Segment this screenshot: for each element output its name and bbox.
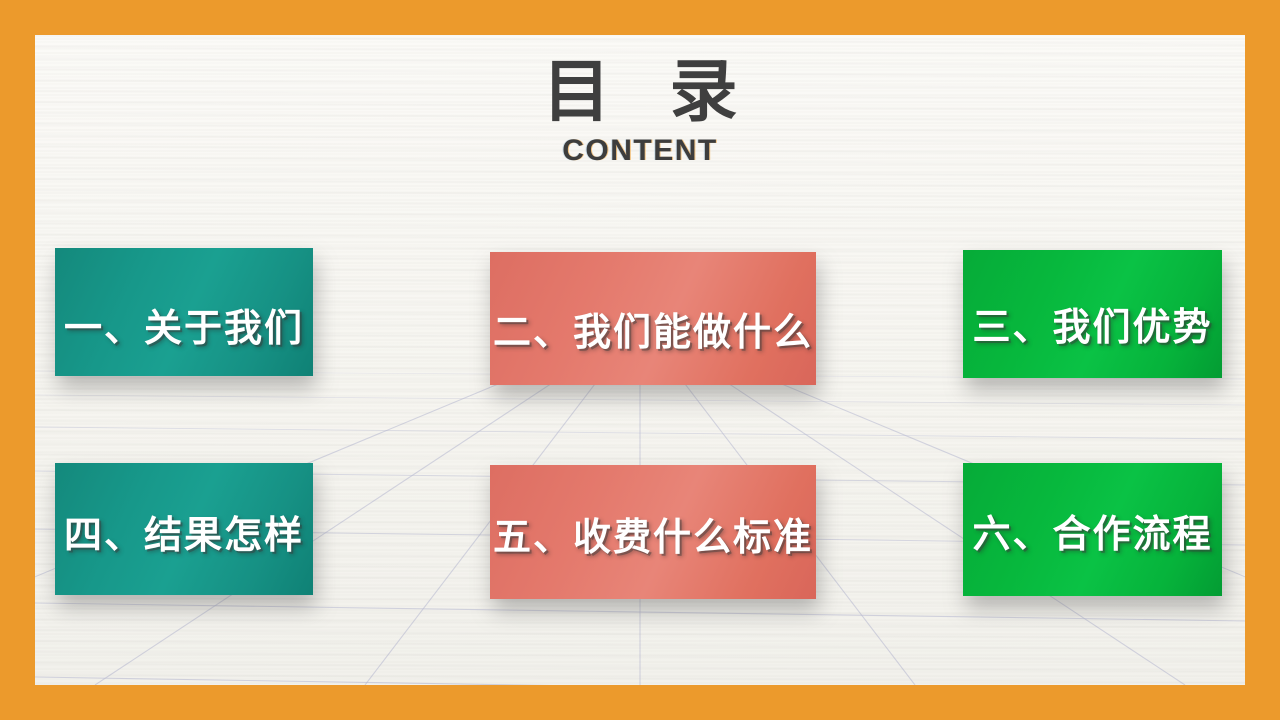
page-subtitle: CONTENT [35,134,1245,168]
slide-canvas: 目 录 CONTENT 一、关于我们 二、我们能做什么 三、我们优势 四、结果怎… [35,35,1245,685]
slide-header: 目 录 CONTENT [35,57,1245,168]
toc-card-6-label: 六、合作流程 [972,503,1212,558]
toc-card-2-label: 二、我们能做什么 [493,301,813,356]
toc-card-3[interactable]: 三、我们优势 [963,250,1222,378]
toc-card-6[interactable]: 六、合作流程 [963,463,1222,596]
toc-card-5-label: 五、收费什么标准 [493,506,813,561]
page-title: 目 录 [35,57,1245,128]
toc-card-4-label: 四、结果怎样 [64,504,304,559]
toc-card-3-label: 三、我们优势 [972,296,1212,351]
toc-card-2[interactable]: 二、我们能做什么 [490,252,816,385]
slide-root: 目 录 CONTENT 一、关于我们 二、我们能做什么 三、我们优势 四、结果怎… [0,0,1280,720]
toc-card-1-label: 一、关于我们 [64,297,304,352]
toc-card-4[interactable]: 四、结果怎样 [55,463,313,595]
toc-card-5[interactable]: 五、收费什么标准 [490,465,816,599]
toc-card-1[interactable]: 一、关于我们 [55,248,313,376]
